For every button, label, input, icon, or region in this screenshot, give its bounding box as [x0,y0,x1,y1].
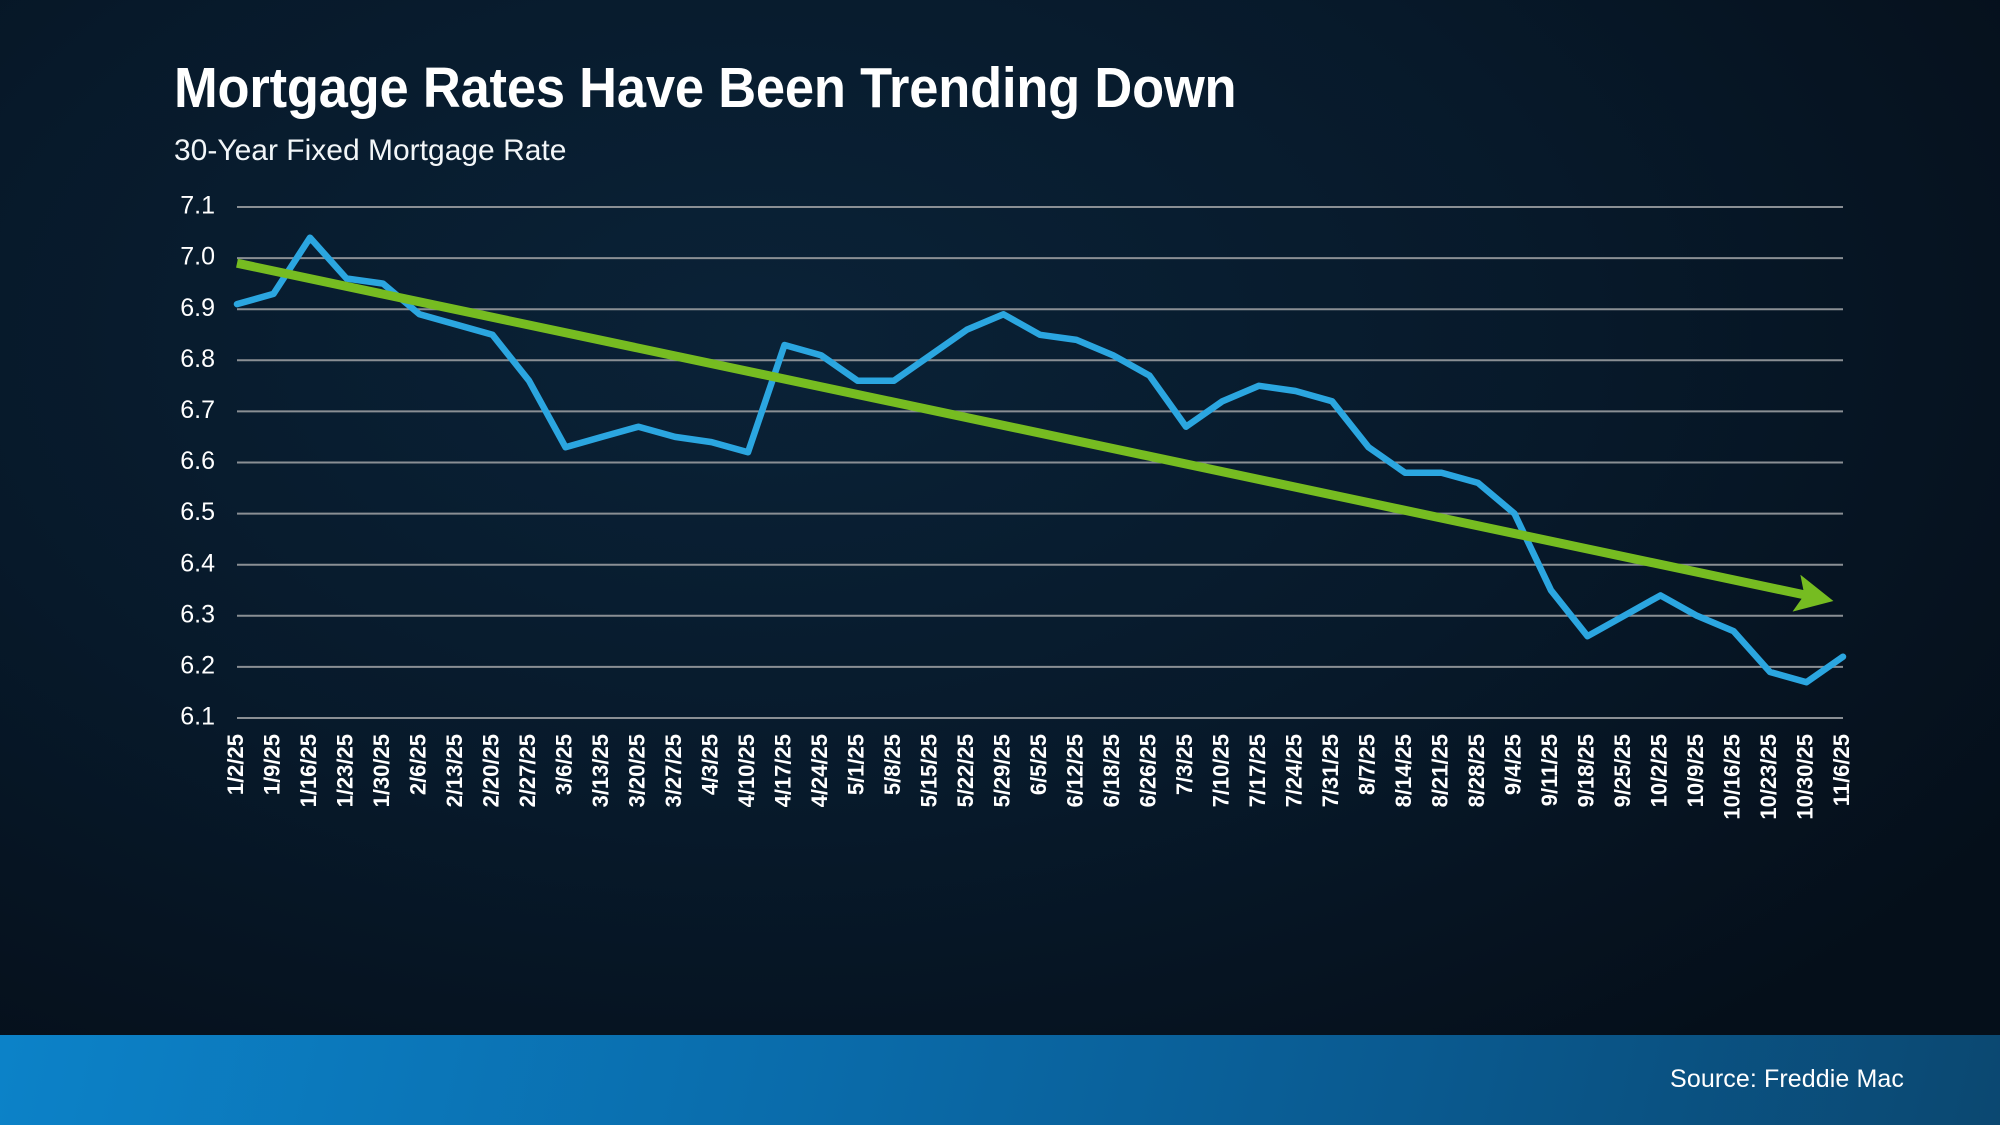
x-axis-tick-label: 3/27/25 [661,734,686,807]
x-axis-tick-label: 2/27/25 [515,734,540,807]
x-axis-tick-label: 10/16/25 [1719,734,1744,820]
x-axis-tick-label: 5/15/25 [916,734,941,807]
x-axis-tick-label: 9/25/25 [1610,734,1635,807]
x-axis-tick-label: 8/28/25 [1464,734,1489,807]
y-axis-tick-label: 6.9 [180,294,215,322]
x-axis-labels-group: 1/2/251/9/251/16/251/23/251/30/252/6/252… [223,734,1854,820]
x-axis-tick-label: 4/10/25 [734,734,759,807]
x-axis-tick-label: 1/9/25 [259,734,284,795]
y-axis-tick-label: 6.6 [180,447,215,475]
x-axis-tick-label: 11/6/25 [1829,734,1854,806]
y-axis-labels-group: 7.17.06.96.86.76.66.56.46.36.26.1 [180,192,215,731]
x-axis-tick-label: 1/30/25 [369,734,394,807]
x-axis-tick-label: 10/2/25 [1646,734,1671,807]
y-axis-tick-label: 6.5 [180,498,215,526]
y-axis-tick-label: 6.2 [180,652,215,680]
x-axis-tick-label: 3/20/25 [624,734,649,807]
x-axis-tick-label: 2/20/25 [478,734,503,807]
x-axis-tick-label: 2/13/25 [442,734,467,807]
x-axis-tick-label: 10/23/25 [1756,734,1781,820]
source-attribution: Source: Freddie Mac [1670,1065,1904,1094]
x-axis-tick-label: 8/14/25 [1391,734,1416,807]
x-axis-tick-label: 9/18/25 [1573,734,1598,807]
x-axis-tick-label: 10/30/25 [1792,734,1817,820]
x-axis-tick-label: 5/22/25 [953,734,978,807]
x-axis-tick-label: 7/31/25 [1318,734,1343,807]
x-axis-tick-label: 1/16/25 [296,734,321,807]
x-axis-tick-label: 4/17/25 [770,734,795,807]
x-axis-tick-label: 6/5/25 [1026,734,1051,795]
y-axis-tick-label: 6.7 [180,396,215,424]
y-axis-tick-label: 7.0 [180,243,215,271]
x-axis-tick-label: 1/2/25 [223,734,248,795]
x-axis-tick-label: 10/9/25 [1683,734,1708,807]
x-axis-tick-label: 5/8/25 [880,734,905,795]
y-axis-tick-label: 6.4 [180,549,215,577]
x-axis-tick-label: 7/24/25 [1281,734,1306,807]
x-axis-tick-label: 6/26/25 [1135,734,1160,807]
x-axis-tick-label: 8/7/25 [1354,734,1379,795]
x-axis-tick-label: 9/4/25 [1500,734,1525,795]
x-axis-tick-label: 7/10/25 [1208,734,1233,807]
y-axis-tick-label: 6.3 [180,600,215,628]
x-axis-tick-label: 5/29/25 [989,734,1014,807]
slide-canvas: Mortgage Rates Have Been Trending Down 3… [0,0,2000,1125]
x-axis-tick-label: 3/6/25 [551,734,576,795]
gridlines-group [237,207,1843,718]
line-chart-svg: 7.17.06.96.86.76.66.56.46.36.26.1 1/2/25… [0,0,2000,1040]
y-axis-tick-label: 6.1 [180,703,215,731]
x-axis-tick-label: 2/6/25 [405,734,430,795]
x-axis-tick-label: 3/13/25 [588,734,613,807]
x-axis-tick-label: 8/21/25 [1427,734,1452,807]
y-axis-tick-label: 7.1 [180,192,215,220]
y-axis-tick-label: 6.8 [180,345,215,373]
x-axis-tick-label: 7/17/25 [1245,734,1270,807]
x-axis-tick-label: 5/1/25 [843,734,868,795]
x-axis-tick-label: 4/3/25 [697,734,722,795]
x-axis-tick-label: 6/12/25 [1062,734,1087,807]
trend-arrow-annotation [237,263,1807,595]
x-axis-tick-label: 7/3/25 [1172,734,1197,795]
x-axis-tick-label: 1/23/25 [332,734,357,807]
x-axis-tick-label: 9/11/25 [1537,734,1562,806]
x-axis-tick-label: 6/18/25 [1099,734,1124,807]
x-axis-tick-label: 4/24/25 [807,734,832,807]
chart-plot-area: 7.17.06.96.86.76.66.56.46.36.26.1 1/2/25… [0,0,2000,1040]
